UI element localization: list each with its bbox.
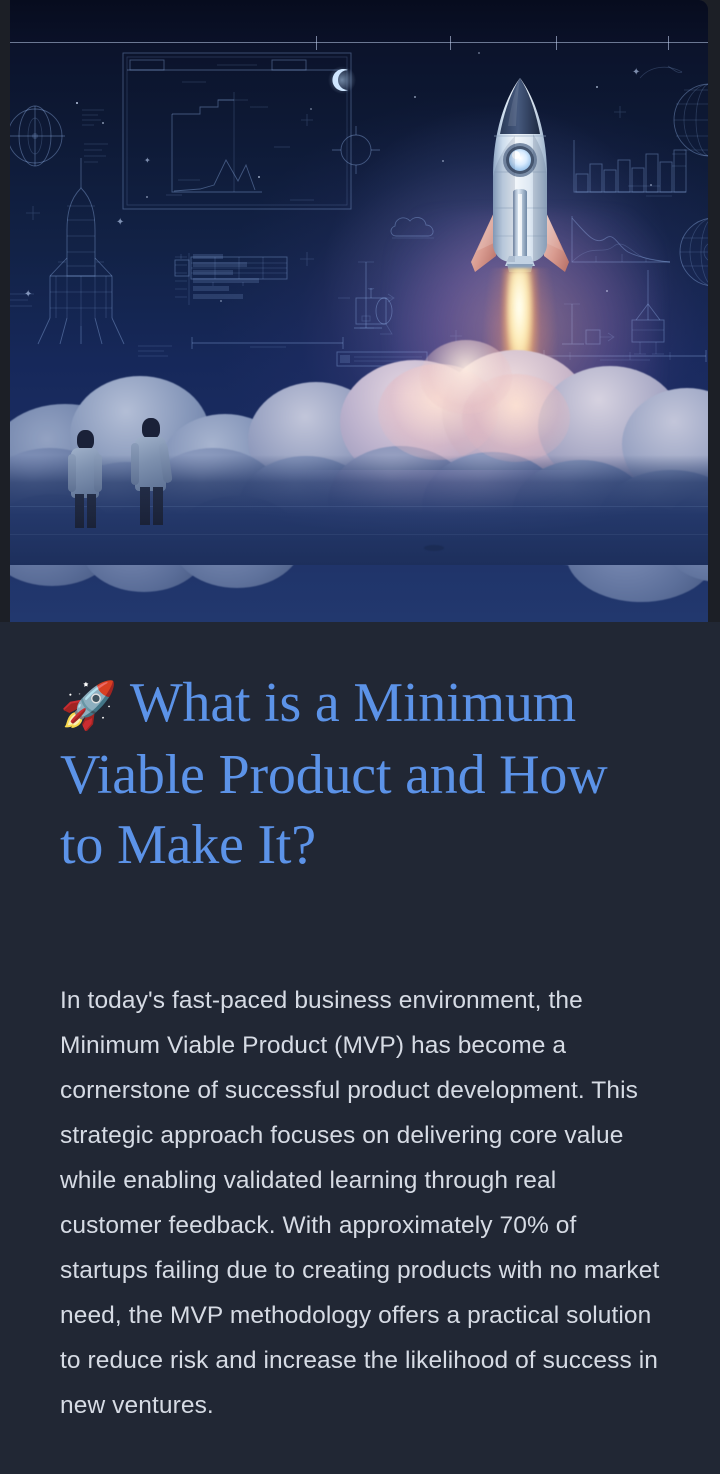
hero-image: ✦ ✦ ✦ ✦ <box>10 0 708 622</box>
figure-head <box>142 418 160 439</box>
blueprint-comet <box>638 64 686 84</box>
figure-arm <box>94 454 102 492</box>
crescent-moon-icon <box>328 66 356 94</box>
blueprint-rocket-tower <box>36 158 126 348</box>
article-page: ✦ ✦ ✦ ✦ <box>0 0 720 1474</box>
page-title: 🚀 What is a Minimum Viable Product and H… <box>60 668 660 880</box>
blueprint-plus-mark <box>300 252 314 266</box>
star <box>442 160 444 162</box>
intro-paragraph: In today's fast-paced business environme… <box>60 978 664 1428</box>
blueprint-beam-schematic <box>173 254 291 288</box>
ground-debris <box>424 545 444 551</box>
blueprint-globe-top <box>672 78 708 162</box>
page-title-text: What is a Minimum Viable Product and How… <box>60 672 607 876</box>
ground-gridline <box>10 506 708 507</box>
figure-arm <box>131 443 139 485</box>
observer-figure-left <box>66 430 106 526</box>
star-sparkle: ✦ <box>116 218 124 228</box>
star-sparkle: ✦ <box>24 290 32 300</box>
star <box>596 86 598 88</box>
observer-figure-right <box>130 418 174 526</box>
star <box>310 108 312 110</box>
star <box>220 300 222 302</box>
star-sparkle: ✦ <box>144 156 151 166</box>
cloud-puff-lit <box>420 340 512 414</box>
star <box>650 184 652 186</box>
blueprint-compass <box>332 126 380 174</box>
blueprint-plus-mark <box>26 206 40 220</box>
ground-reflection <box>10 470 708 565</box>
article-content: 🚀 What is a Minimum Viable Product and H… <box>0 622 720 1474</box>
rocket-emoji-icon: 🚀 <box>60 678 117 732</box>
star <box>478 52 480 54</box>
figure-head <box>77 430 94 450</box>
star <box>414 96 416 98</box>
figure-legs <box>75 494 84 528</box>
figure-legs <box>87 494 96 528</box>
figure-arm <box>68 454 76 492</box>
ground-gridline <box>10 534 708 535</box>
star <box>76 102 78 104</box>
blueprint-chart-frame <box>122 52 352 210</box>
figure-legs <box>140 487 150 525</box>
smoke-clouds <box>10 330 708 565</box>
star <box>258 176 260 178</box>
star <box>102 122 104 124</box>
star <box>146 196 148 198</box>
star-sparkle: ✦ <box>632 68 640 78</box>
blueprint-plus-mark <box>614 106 626 118</box>
figure-legs <box>153 487 163 525</box>
